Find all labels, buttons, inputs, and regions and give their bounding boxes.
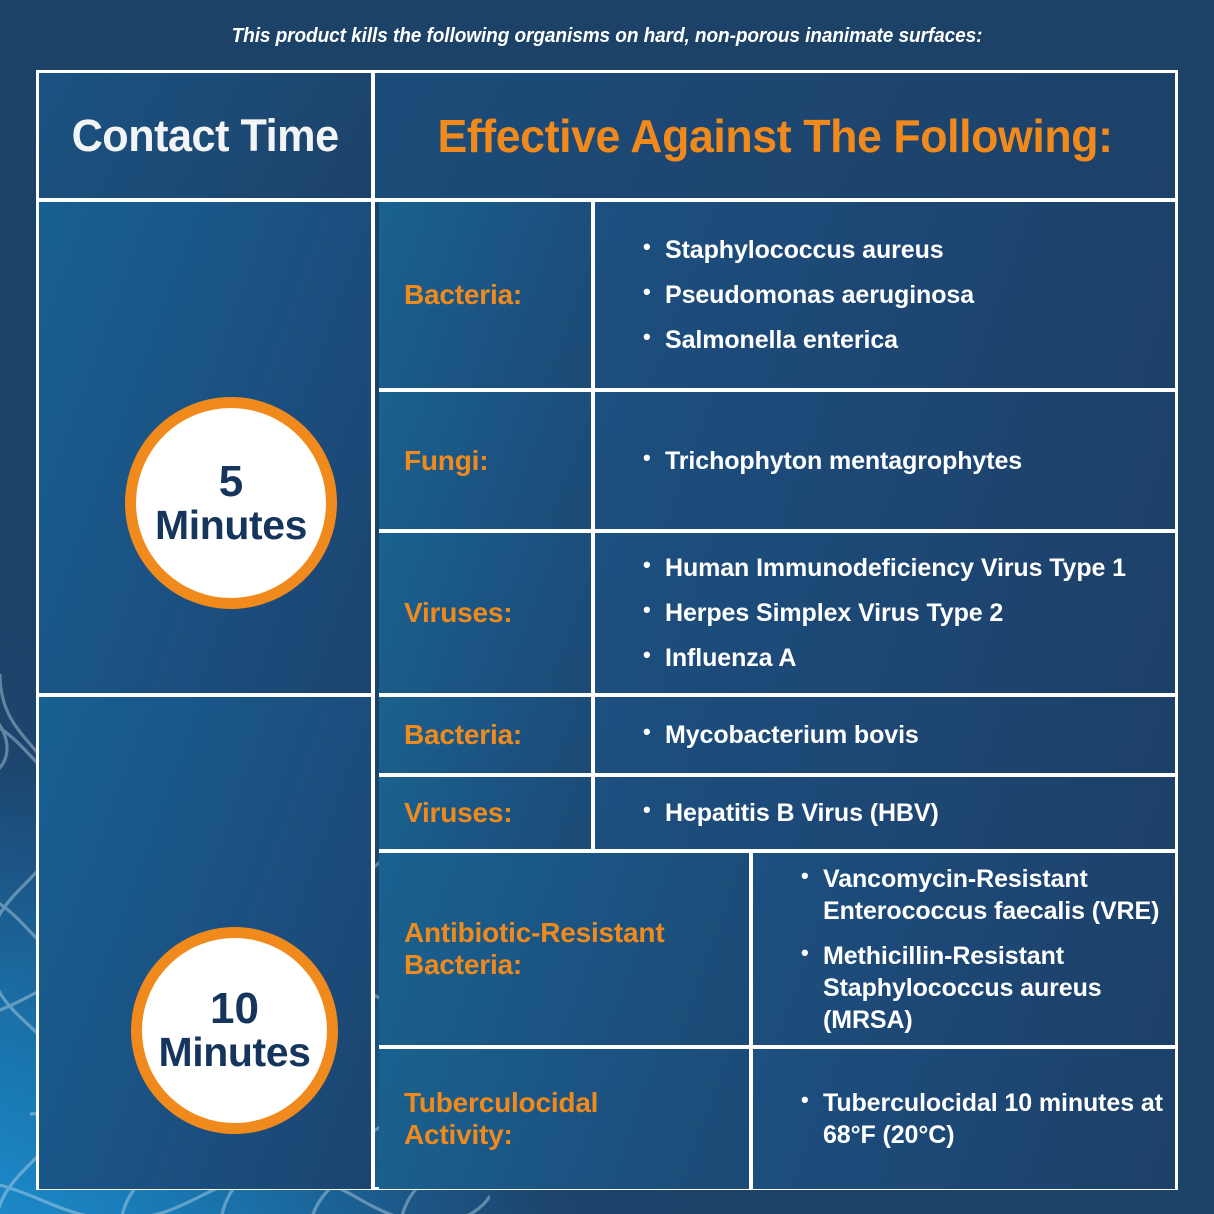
- organism-category-label: Bacteria:: [379, 202, 595, 388]
- organism-list-cell: Tuberculocidal 10 minutes at 68°F (20°C): [753, 1049, 1175, 1189]
- label-text-line2: Activity:: [404, 1119, 598, 1151]
- organism-list: Mycobacterium bovis: [643, 719, 1175, 751]
- organism-list: Vancomycin-Resistant Enterococcus faecal…: [801, 863, 1175, 1036]
- list-item: Influenza A: [643, 642, 1175, 674]
- badge-unit: Minutes: [155, 505, 307, 547]
- organism-list-cell: Staphylococcus aureus Pseudomonas aerugi…: [595, 202, 1175, 388]
- table-row-10min-antibiotic-resistant-bacteria: Antibiotic-Resistant Bacteria: Vancomyci…: [379, 853, 1175, 1049]
- efficacy-table: Contact Time Effective Against The Follo…: [36, 70, 1178, 1190]
- label-text-line2: Bacteria:: [404, 949, 664, 981]
- table-row-10min-viruses: Viruses: Hepatitis B Virus (HBV): [379, 777, 1175, 853]
- label-text: Fungi:: [404, 445, 488, 477]
- list-item: Herpes Simplex Virus Type 2: [643, 597, 1175, 629]
- list-item: Pseudomonas aeruginosa: [643, 279, 1175, 311]
- table-row-10min-tuberculocidal-activity: Tuberculocidal Activity: Tuberculocidal …: [379, 1049, 1175, 1189]
- organism-list: Tuberculocidal 10 minutes at 68°F (20°C): [801, 1087, 1175, 1151]
- organism-category-label: Viruses:: [379, 777, 595, 849]
- list-item: Vancomycin-Resistant Enterococcus faecal…: [801, 863, 1175, 927]
- organism-list-cell: Human Immunodeficiency Virus Type 1 Herp…: [595, 533, 1175, 693]
- organism-category-label: Bacteria:: [379, 697, 595, 773]
- organism-category-label: Viruses:: [379, 533, 595, 693]
- organism-category-label: Tuberculocidal Activity:: [379, 1049, 753, 1189]
- badge-number: 5: [219, 460, 243, 505]
- page-subtitle: This product kills the following organis…: [42, 24, 1171, 48]
- organism-list-cell: Vancomycin-Resistant Enterococcus faecal…: [753, 853, 1175, 1045]
- label-text-line1: Antibiotic-Resistant: [404, 917, 664, 949]
- header-cell-contact-time: Contact Time: [39, 73, 375, 202]
- label-text-line1: Tuberculocidal: [404, 1087, 598, 1119]
- label-text: Viruses:: [404, 597, 512, 629]
- infographic-canvas: This product kills the following organis…: [0, 0, 1214, 1214]
- table-row-10min-bacteria: Bacteria: Mycobacterium bovis: [379, 697, 1175, 777]
- list-item: Trichophyton mentagrophytes: [643, 445, 1175, 477]
- contact-time-badge-10-minutes: 10 Minutes: [131, 927, 338, 1134]
- organism-list: Hepatitis B Virus (HBV): [643, 797, 1175, 829]
- contact-time-badge-5-minutes: 5 Minutes: [125, 397, 337, 609]
- label-text: Bacteria:: [404, 279, 522, 311]
- time-column-5-minutes: 5 Minutes: [39, 202, 375, 697]
- organism-category-label: Fungi:: [379, 392, 595, 529]
- organism-list: Human Immunodeficiency Virus Type 1 Herp…: [643, 552, 1175, 674]
- badge-unit: Minutes: [158, 1032, 310, 1074]
- time-column-10-minutes: 10 Minutes: [39, 697, 375, 1189]
- header-effective-against-label: Effective Against The Following:: [437, 109, 1112, 163]
- list-item: Staphylococcus aureus: [643, 234, 1175, 266]
- list-item: Human Immunodeficiency Virus Type 1: [643, 552, 1175, 584]
- organism-list-cell: Mycobacterium bovis: [595, 697, 1175, 773]
- organism-list: Staphylococcus aureus Pseudomonas aerugi…: [643, 234, 1175, 356]
- table-row-5min-bacteria: Bacteria: Staphylococcus aureus Pseudomo…: [379, 202, 1175, 392]
- badge-number: 10: [210, 987, 259, 1032]
- list-item: Mycobacterium bovis: [643, 719, 1175, 751]
- organism-category-label: Antibiotic-Resistant Bacteria:: [379, 853, 753, 1045]
- list-item: Tuberculocidal 10 minutes at 68°F (20°C): [801, 1087, 1175, 1151]
- header-cell-effective-against: Effective Against The Following:: [375, 73, 1175, 202]
- organism-list-cell: Trichophyton mentagrophytes: [595, 392, 1175, 529]
- table-row-5min-viruses: Viruses: Human Immunodeficiency Virus Ty…: [379, 533, 1175, 697]
- list-item: Hepatitis B Virus (HBV): [643, 797, 1175, 829]
- organism-list: Trichophyton mentagrophytes: [643, 445, 1175, 477]
- header-contact-time-label: Contact Time: [71, 110, 338, 162]
- organism-list-cell: Hepatitis B Virus (HBV): [595, 777, 1175, 849]
- list-item: Salmonella enterica: [643, 324, 1175, 356]
- table-header-row: Contact Time Effective Against The Follo…: [39, 73, 1175, 202]
- label-text: Viruses:: [404, 797, 512, 829]
- table-body: 5 Minutes 10 Minutes Bacteria: Staphylo: [39, 202, 1175, 1187]
- label-text: Bacteria:: [404, 719, 522, 751]
- list-item: Methicillin-Resistant Staphylococcus aur…: [801, 940, 1175, 1036]
- table-row-5min-fungi: Fungi: Trichophyton mentagrophytes: [379, 392, 1175, 533]
